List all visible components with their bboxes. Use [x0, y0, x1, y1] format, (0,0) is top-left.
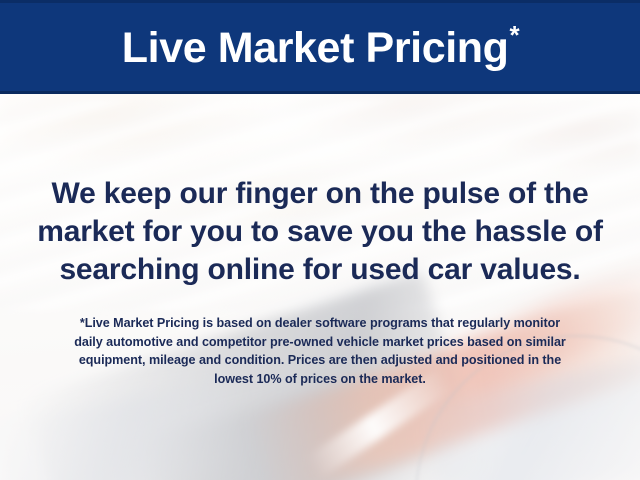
headline-line-2: market for you to save you the hassle of [0, 213, 640, 251]
disclaimer: *Live Market Pricing is based on dealer … [0, 314, 640, 388]
page-title: Live Market Pricing* [122, 27, 518, 70]
disclaimer-line-3: equipment, mileage and condition. Prices… [0, 351, 640, 370]
headline-line-3: searching online for used car values. [0, 251, 640, 289]
headline: We keep our finger on the pulse of the m… [0, 175, 640, 289]
disclaimer-line-4: lowest 10% of prices on the market. [0, 370, 640, 389]
disclaimer-line-1: *Live Market Pricing is based on dealer … [0, 314, 640, 333]
headline-line-1: We keep our finger on the pulse of the [0, 175, 640, 213]
footnote-marker-asterisk: * [510, 20, 520, 50]
header-band: Live Market Pricing* [0, 0, 640, 94]
disclaimer-line-2: daily automotive and competitor pre-owne… [0, 333, 640, 352]
live-market-pricing-banner: Live Market Pricing* We keep our finger … [0, 0, 640, 480]
page-title-text: Live Market Pricing [122, 24, 509, 72]
